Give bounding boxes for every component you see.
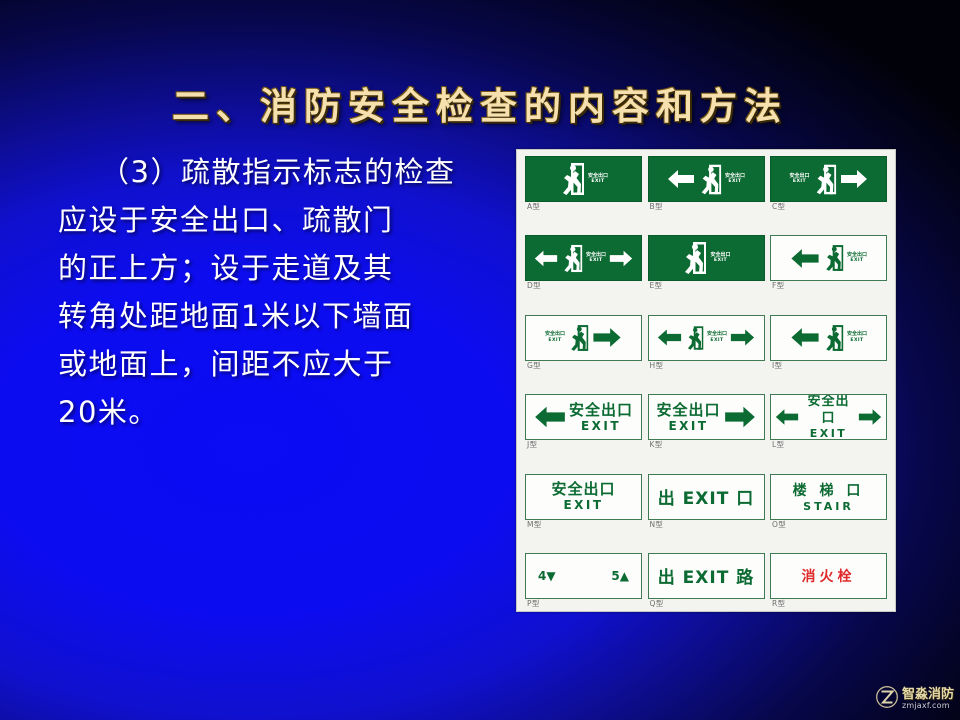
- running-man-door-icon: [698, 163, 722, 196]
- watermark: 智淼消防 zmjaxf.com: [876, 686, 954, 712]
- sign-caption: B型: [648, 202, 765, 212]
- sign-caption: O型: [770, 520, 887, 530]
- sign-cell: 出 EXIT 口 N型: [648, 474, 765, 530]
- body-line: 20米。: [58, 388, 520, 436]
- body-paragraph: （3）疏散指示标志的检查 应设于安全出口、疏散门 的正上方；设于走道及其 转角处…: [58, 148, 520, 436]
- running-man-door-icon: [685, 324, 704, 352]
- arrow-left-icon: [790, 247, 820, 270]
- sign-l: 安全出口EXIT: [770, 394, 887, 440]
- floor-down-label: 4▼: [538, 569, 556, 583]
- sign-label: 安全出口EXIT: [725, 174, 745, 185]
- sign-d: 安全出口EXIT: [525, 235, 642, 281]
- sign-i: 安全出口EXIT: [770, 315, 887, 361]
- sign-label: 安全出口EXIT: [586, 253, 606, 264]
- sign-cell: 出 EXIT 路 Q型: [648, 553, 765, 609]
- sign-label: 出 EXIT 路: [658, 563, 754, 588]
- sign-cell: 消火栓 R型: [770, 553, 887, 609]
- sign-m: 安全出口EXIT: [525, 474, 642, 520]
- sign-cell: 安全出口EXIT K型: [648, 394, 765, 450]
- arrow-left-icon: [790, 326, 820, 349]
- running-man-door-icon: [559, 162, 585, 196]
- slide-canvas: 二、消防安全检查的内容和方法 （3）疏散指示标志的检查 应设于安全出口、疏散门 …: [0, 0, 960, 720]
- arrow-left-icon: [534, 404, 566, 430]
- sign-caption: J型: [525, 440, 642, 450]
- sign-row: 安全出口EXIT A型 安全出口EXIT B型 安全: [521, 156, 891, 212]
- sign-label: 安全出口EXIT: [551, 481, 615, 512]
- watermark-logo-icon: [876, 686, 898, 712]
- sign-label: 安全出口EXIT: [789, 174, 809, 185]
- sign-cell: 安全出口EXIT E型: [648, 235, 765, 291]
- sign-row: 安全出口EXIT G型 安全出口EXIT H型: [521, 315, 891, 371]
- sign-caption: C型: [770, 202, 887, 212]
- sign-cell: 安全出口EXIT A型: [525, 156, 642, 212]
- sign-cell: 安全出口EXIT M型: [525, 474, 642, 530]
- running-man-door-icon: [561, 243, 583, 274]
- sign-c: 安全出口EXIT: [770, 156, 887, 202]
- sign-label: 安全出口EXIT: [569, 402, 633, 433]
- running-man-door-icon: [823, 323, 844, 353]
- body-line: 应设于安全出口、疏散门: [58, 196, 520, 244]
- sign-caption: G型: [525, 361, 642, 371]
- sign-cell: 安全出口EXIT I型: [770, 315, 887, 371]
- sign-g: 安全出口EXIT: [525, 315, 642, 361]
- sign-caption: I型: [770, 361, 887, 371]
- sign-caption: A型: [525, 202, 642, 212]
- arrow-right-icon: [592, 326, 622, 349]
- sign-h: 安全出口EXIT: [648, 315, 765, 361]
- sign-cell: 安全出口EXIT J型: [525, 394, 642, 450]
- sign-cell: 安全出口EXIT G型: [525, 315, 642, 371]
- running-man-door-icon: [568, 323, 589, 353]
- arrow-left-icon: [534, 248, 558, 269]
- sign-cell: 安全出口EXIT H型: [648, 315, 765, 371]
- page-title: 二、消防安全检查的内容和方法: [0, 76, 960, 130]
- sign-cell: 安全出口EXIT B型: [648, 156, 765, 212]
- sign-label: 安全出口EXIT: [707, 332, 727, 343]
- sign-n: 出 EXIT 口: [648, 474, 765, 520]
- sign-caption: L型: [770, 440, 887, 450]
- exit-sign-chart-image: 安全出口EXIT A型 安全出口EXIT B型 安全: [516, 149, 896, 612]
- arrow-left-icon: [775, 406, 799, 428]
- sign-row: 安全出口EXIT J型 安全出口EXIT K型 安全: [521, 394, 891, 450]
- sign-b: 安全出口EXIT: [648, 156, 765, 202]
- running-man-door-icon: [681, 241, 707, 275]
- sign-label: 安全出口EXIT: [545, 332, 565, 343]
- sign-label: 安全出口EXIT: [656, 402, 720, 433]
- sign-o: 楼 梯 口STAIR: [770, 474, 887, 520]
- sign-row: 安全出口EXIT D型 安全出口EXIT E型: [521, 235, 891, 291]
- sign-row: 安全出口EXIT M型 出 EXIT 口 N型 楼 梯 口STAIR: [521, 474, 891, 530]
- sign-e: 安全出口EXIT: [648, 235, 765, 281]
- body-line: 转角处距地面1米以下墙面: [58, 292, 520, 340]
- sign-j: 安全出口EXIT: [525, 394, 642, 440]
- arrow-right-icon: [730, 327, 755, 348]
- sign-cell: 安全出口EXIT C型: [770, 156, 887, 212]
- arrow-right-icon: [609, 248, 633, 269]
- sign-cell: 安全出口EXIT D型: [525, 235, 642, 291]
- sign-caption: D型: [525, 281, 642, 291]
- sign-a: 安全出口EXIT: [525, 156, 642, 202]
- sign-fire-hydrant: 消火栓: [770, 553, 887, 599]
- sign-caption: P型: [525, 599, 642, 609]
- arrow-right-icon: [724, 404, 756, 430]
- sign-cell: 安全出口EXIT F型: [770, 235, 887, 291]
- body-line: 或地面上，间距不应大于: [58, 340, 520, 388]
- sign-label: 楼 梯 口STAIR: [793, 480, 865, 513]
- running-man-door-icon: [823, 243, 844, 273]
- sign-caption: M型: [525, 520, 642, 530]
- arrow-right-icon: [840, 168, 868, 190]
- sign-label: 出 EXIT 口: [658, 484, 754, 509]
- sign-row: 4▼ 5▲ P型 出 EXIT 路 Q型 消火栓: [521, 553, 891, 609]
- sign-caption: R型: [770, 599, 887, 609]
- sign-label: 安全出口EXIT: [588, 174, 608, 185]
- watermark-url: zmjaxf.com: [902, 702, 954, 710]
- sign-label: 消火栓: [802, 566, 856, 586]
- sign-caption: F型: [770, 281, 887, 291]
- sign-exit-road: 出 EXIT 路: [648, 553, 765, 599]
- arrow-left-icon: [667, 168, 695, 190]
- sign-cell: 4▼ 5▲ P型: [525, 553, 642, 609]
- arrow-right-icon: [858, 406, 882, 428]
- sign-f: 安全出口EXIT: [770, 235, 887, 281]
- body-line: （3）疏散指示标志的检查: [58, 148, 520, 196]
- sign-caption: E型: [648, 281, 765, 291]
- sign-label: 安全出口EXIT: [847, 332, 867, 343]
- sign-label: 安全出口EXIT: [847, 253, 867, 264]
- sign-k: 安全出口EXIT: [648, 394, 765, 440]
- arrow-left-icon: [657, 327, 682, 348]
- sign-caption: N型: [648, 520, 765, 530]
- sign-cell: 安全出口EXIT L型: [770, 394, 887, 450]
- sign-cell: 楼 梯 口STAIR O型: [770, 474, 887, 530]
- running-man-door-icon: [813, 163, 837, 196]
- sign-caption: H型: [648, 361, 765, 371]
- sign-label: 安全出口EXIT: [802, 394, 855, 440]
- body-line: 的正上方；设于走道及其: [58, 244, 520, 292]
- sign-floor-indicator: 4▼ 5▲: [525, 553, 642, 599]
- sign-caption: Q型: [648, 599, 765, 609]
- sign-label: 安全出口EXIT: [710, 253, 730, 264]
- floor-up-label: 5▲: [611, 569, 629, 583]
- watermark-name: 智淼消防: [902, 688, 954, 701]
- sign-caption: K型: [648, 440, 765, 450]
